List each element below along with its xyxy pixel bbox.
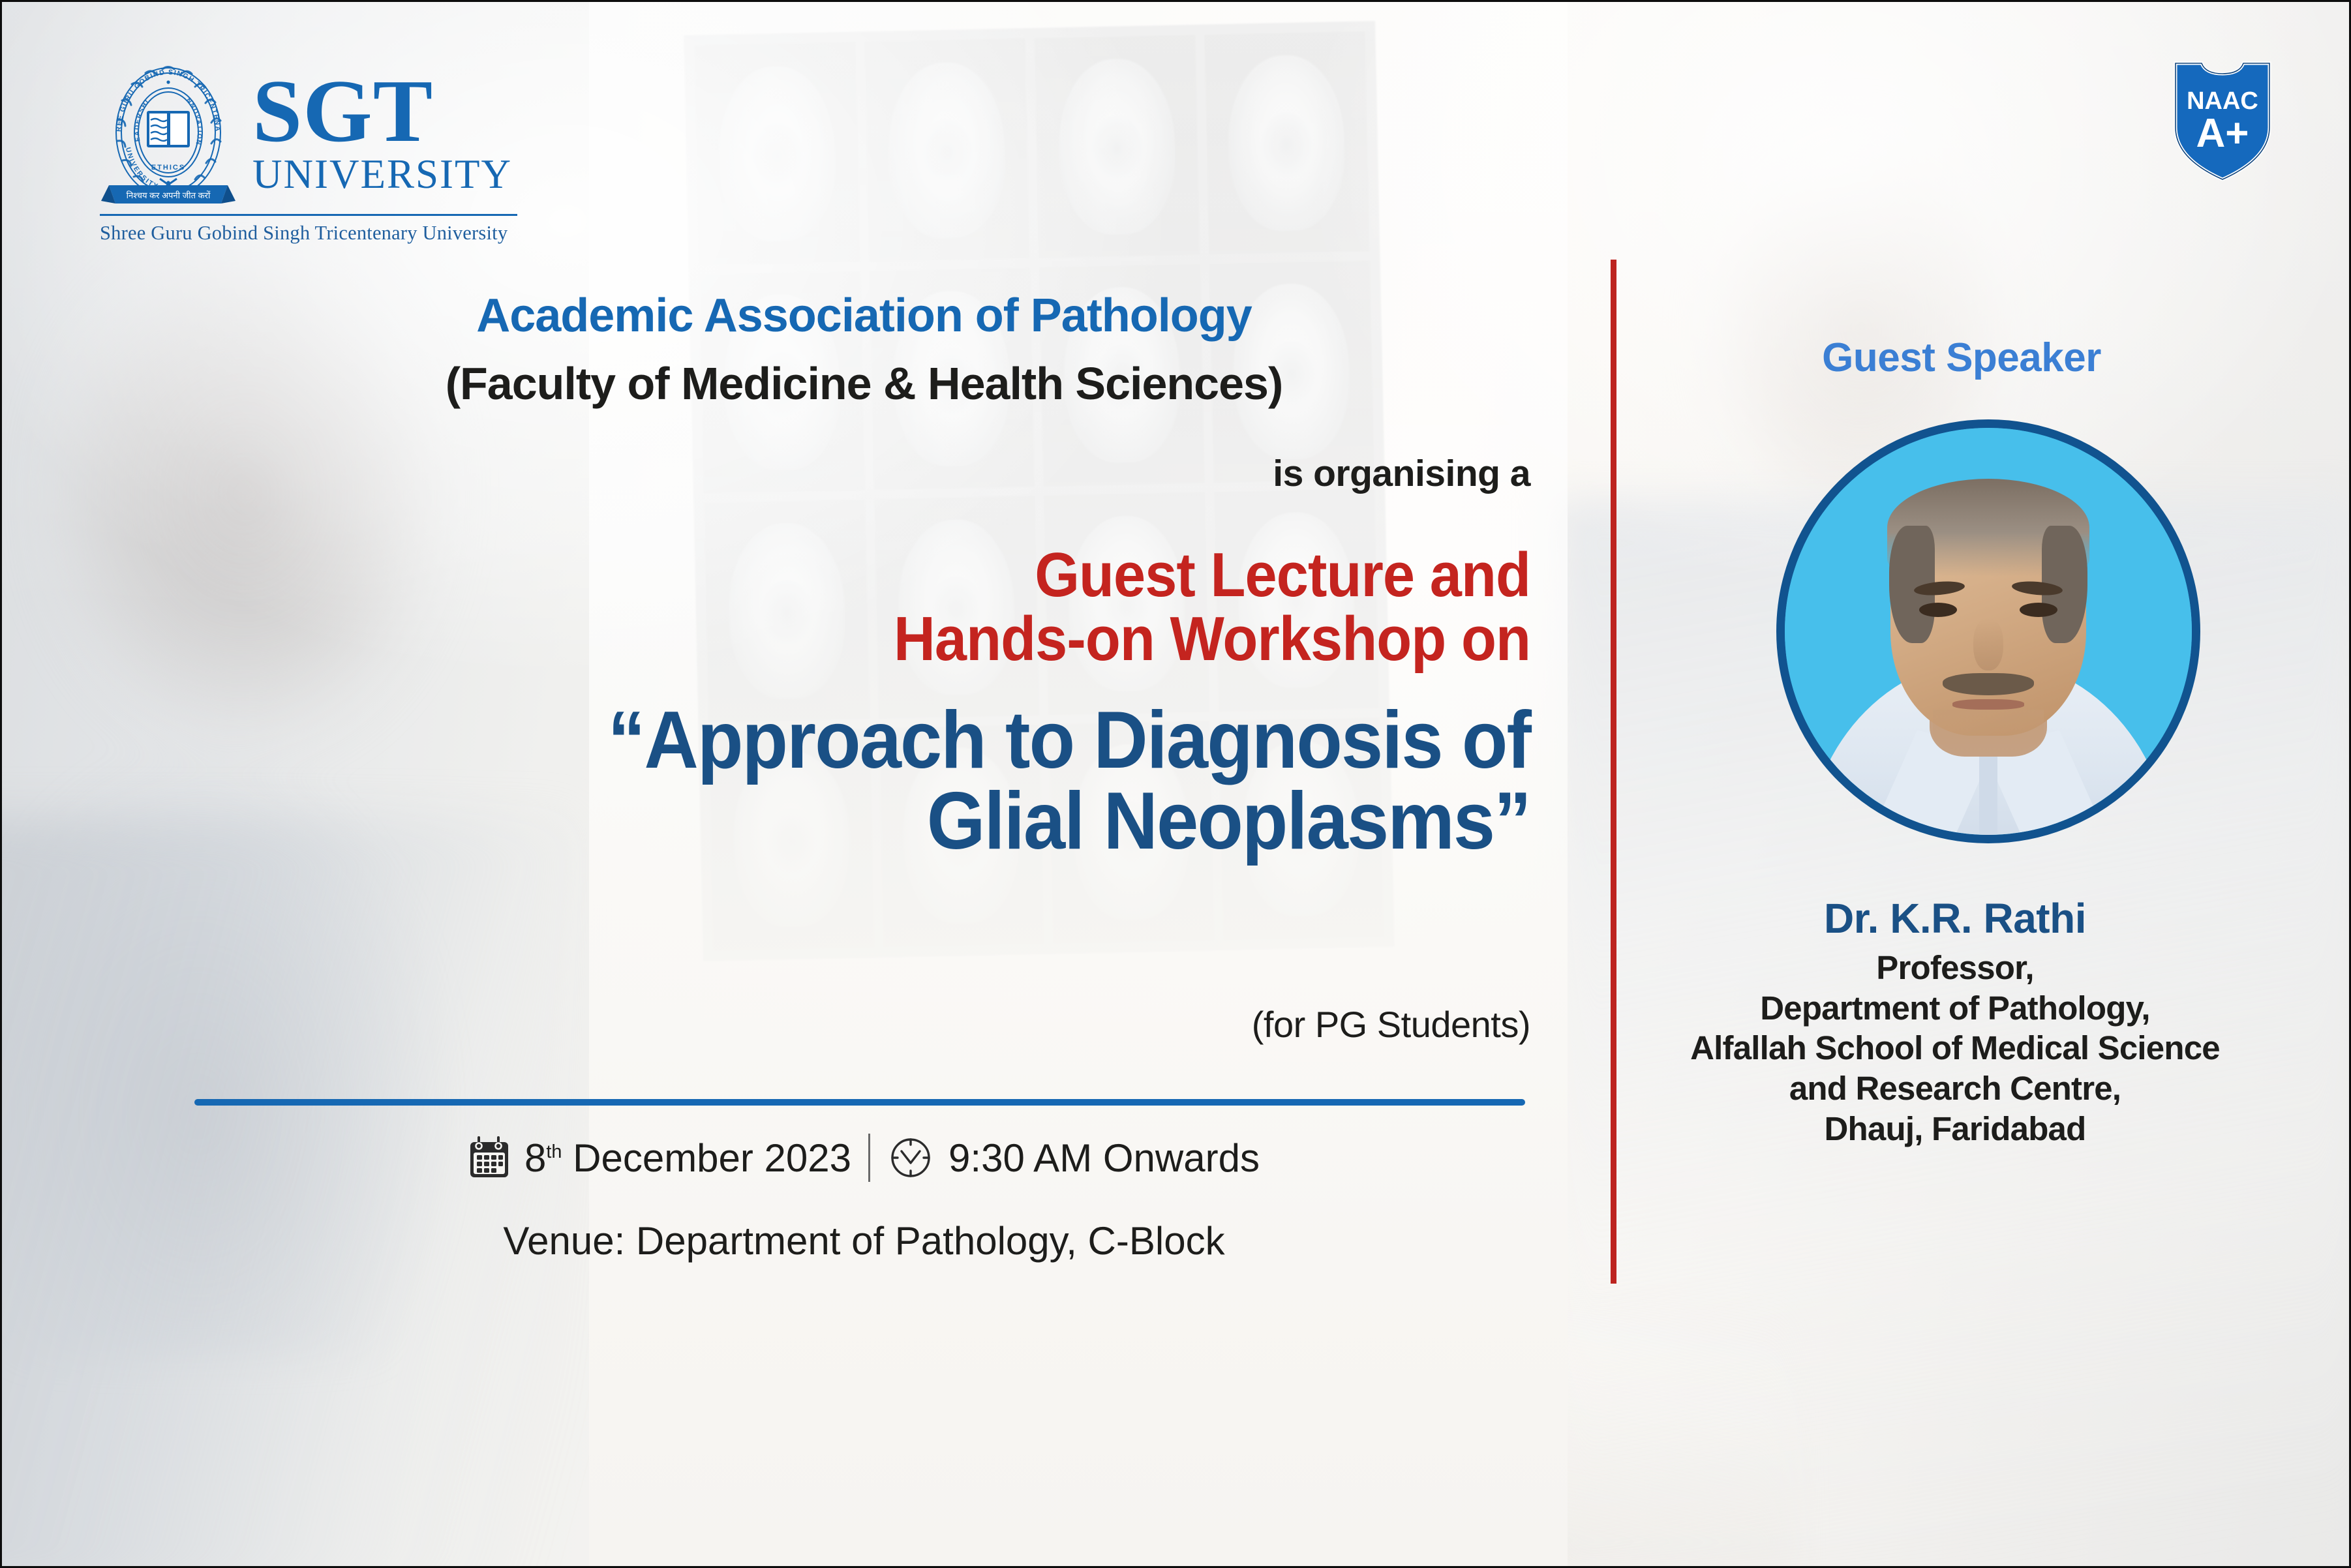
event-topic-line-2: Glial Neoplasms” [254, 781, 1530, 862]
time-text: 9:30 AM Onwards [948, 1136, 1260, 1181]
horizontal-divider [194, 1099, 1525, 1106]
logo-tagline: Shree Guru Gobind Singh Tricentenary Uni… [100, 222, 517, 245]
event-poster: SHREE GURU GOBIND SINGH TRICENTENARY UNI… [0, 0, 2351, 1568]
university-crest-icon: SHREE GURU GOBIND SINGH TRICENTENARY UNI… [100, 57, 237, 207]
organiser-subtitle: (Faculty of Medicine & Health Sciences) [198, 357, 1530, 410]
speaker-affiliation-line-5: Dhauj, Faridabad [1613, 1109, 2297, 1149]
clock-icon [887, 1134, 934, 1181]
logo-acronym: SGT [252, 70, 517, 152]
organising-text: is organising a [198, 452, 1530, 495]
organiser-title: Academic Association of Pathology [198, 289, 1530, 342]
date-time-separator [868, 1134, 870, 1182]
event-topic-line-1: “Approach to Diagnosis of [254, 700, 1530, 781]
speaker-affiliation-line-3: Alfallah School of Medical Science [1613, 1028, 2297, 1068]
speaker-affiliation-line-1: Professor, [1613, 948, 2297, 988]
event-date: 8th December 2023 [468, 1136, 851, 1181]
event-type-line-1: Guest Lecture and [304, 543, 1530, 607]
event-type-line-2: Hands-on Workshop on [304, 607, 1530, 671]
event-time: 9:30 AM Onwards [887, 1134, 1260, 1181]
date-time-row: 8th December 2023 9:30 AM Onwards [198, 1134, 1530, 1182]
crest-motto: निश्चय कर अपनी जीत करों [127, 190, 211, 200]
calendar-icon [468, 1136, 510, 1180]
event-topic-heading: “Approach to Diagnosis of Glial Neoplasm… [254, 700, 1530, 862]
date-day: 8 [524, 1136, 546, 1180]
guest-speaker-label: Guest Speaker [1646, 335, 2277, 381]
speaker-name: Dr. K.R. Rathi [1633, 894, 2277, 942]
logo-university-word: UNIVERSITY [252, 154, 517, 195]
event-type-heading: Guest Lecture and Hands-on Workshop on [304, 543, 1530, 671]
date-text: 8th December 2023 [524, 1136, 851, 1181]
date-ordinal: th [546, 1141, 562, 1162]
logo-divider [100, 214, 517, 216]
speaker-affiliation-line-4: and Research Centre, [1613, 1068, 2297, 1109]
event-venue: Venue: Department of Pathology, C-Block [198, 1218, 1530, 1263]
speaker-affiliation-line-2: Department of Pathology, [1613, 988, 2297, 1029]
target-audience: (for PG Students) [198, 1003, 1530, 1046]
svg-text:ETHICS: ETHICS [151, 164, 185, 172]
speaker-affiliation: Professor, Department of Pathology, Alfa… [1613, 948, 2297, 1149]
speaker-portrait-illustration [1785, 428, 2192, 835]
speaker-photo [1776, 419, 2200, 843]
naac-accreditation-badge-icon: NAAC A+ [2168, 54, 2277, 185]
sgt-university-logo: SHREE GURU GOBIND SINGH TRICENTENARY UNI… [100, 57, 517, 245]
date-rest: December 2023 [562, 1136, 851, 1180]
naac-grade-label: A+ [2196, 111, 2249, 156]
